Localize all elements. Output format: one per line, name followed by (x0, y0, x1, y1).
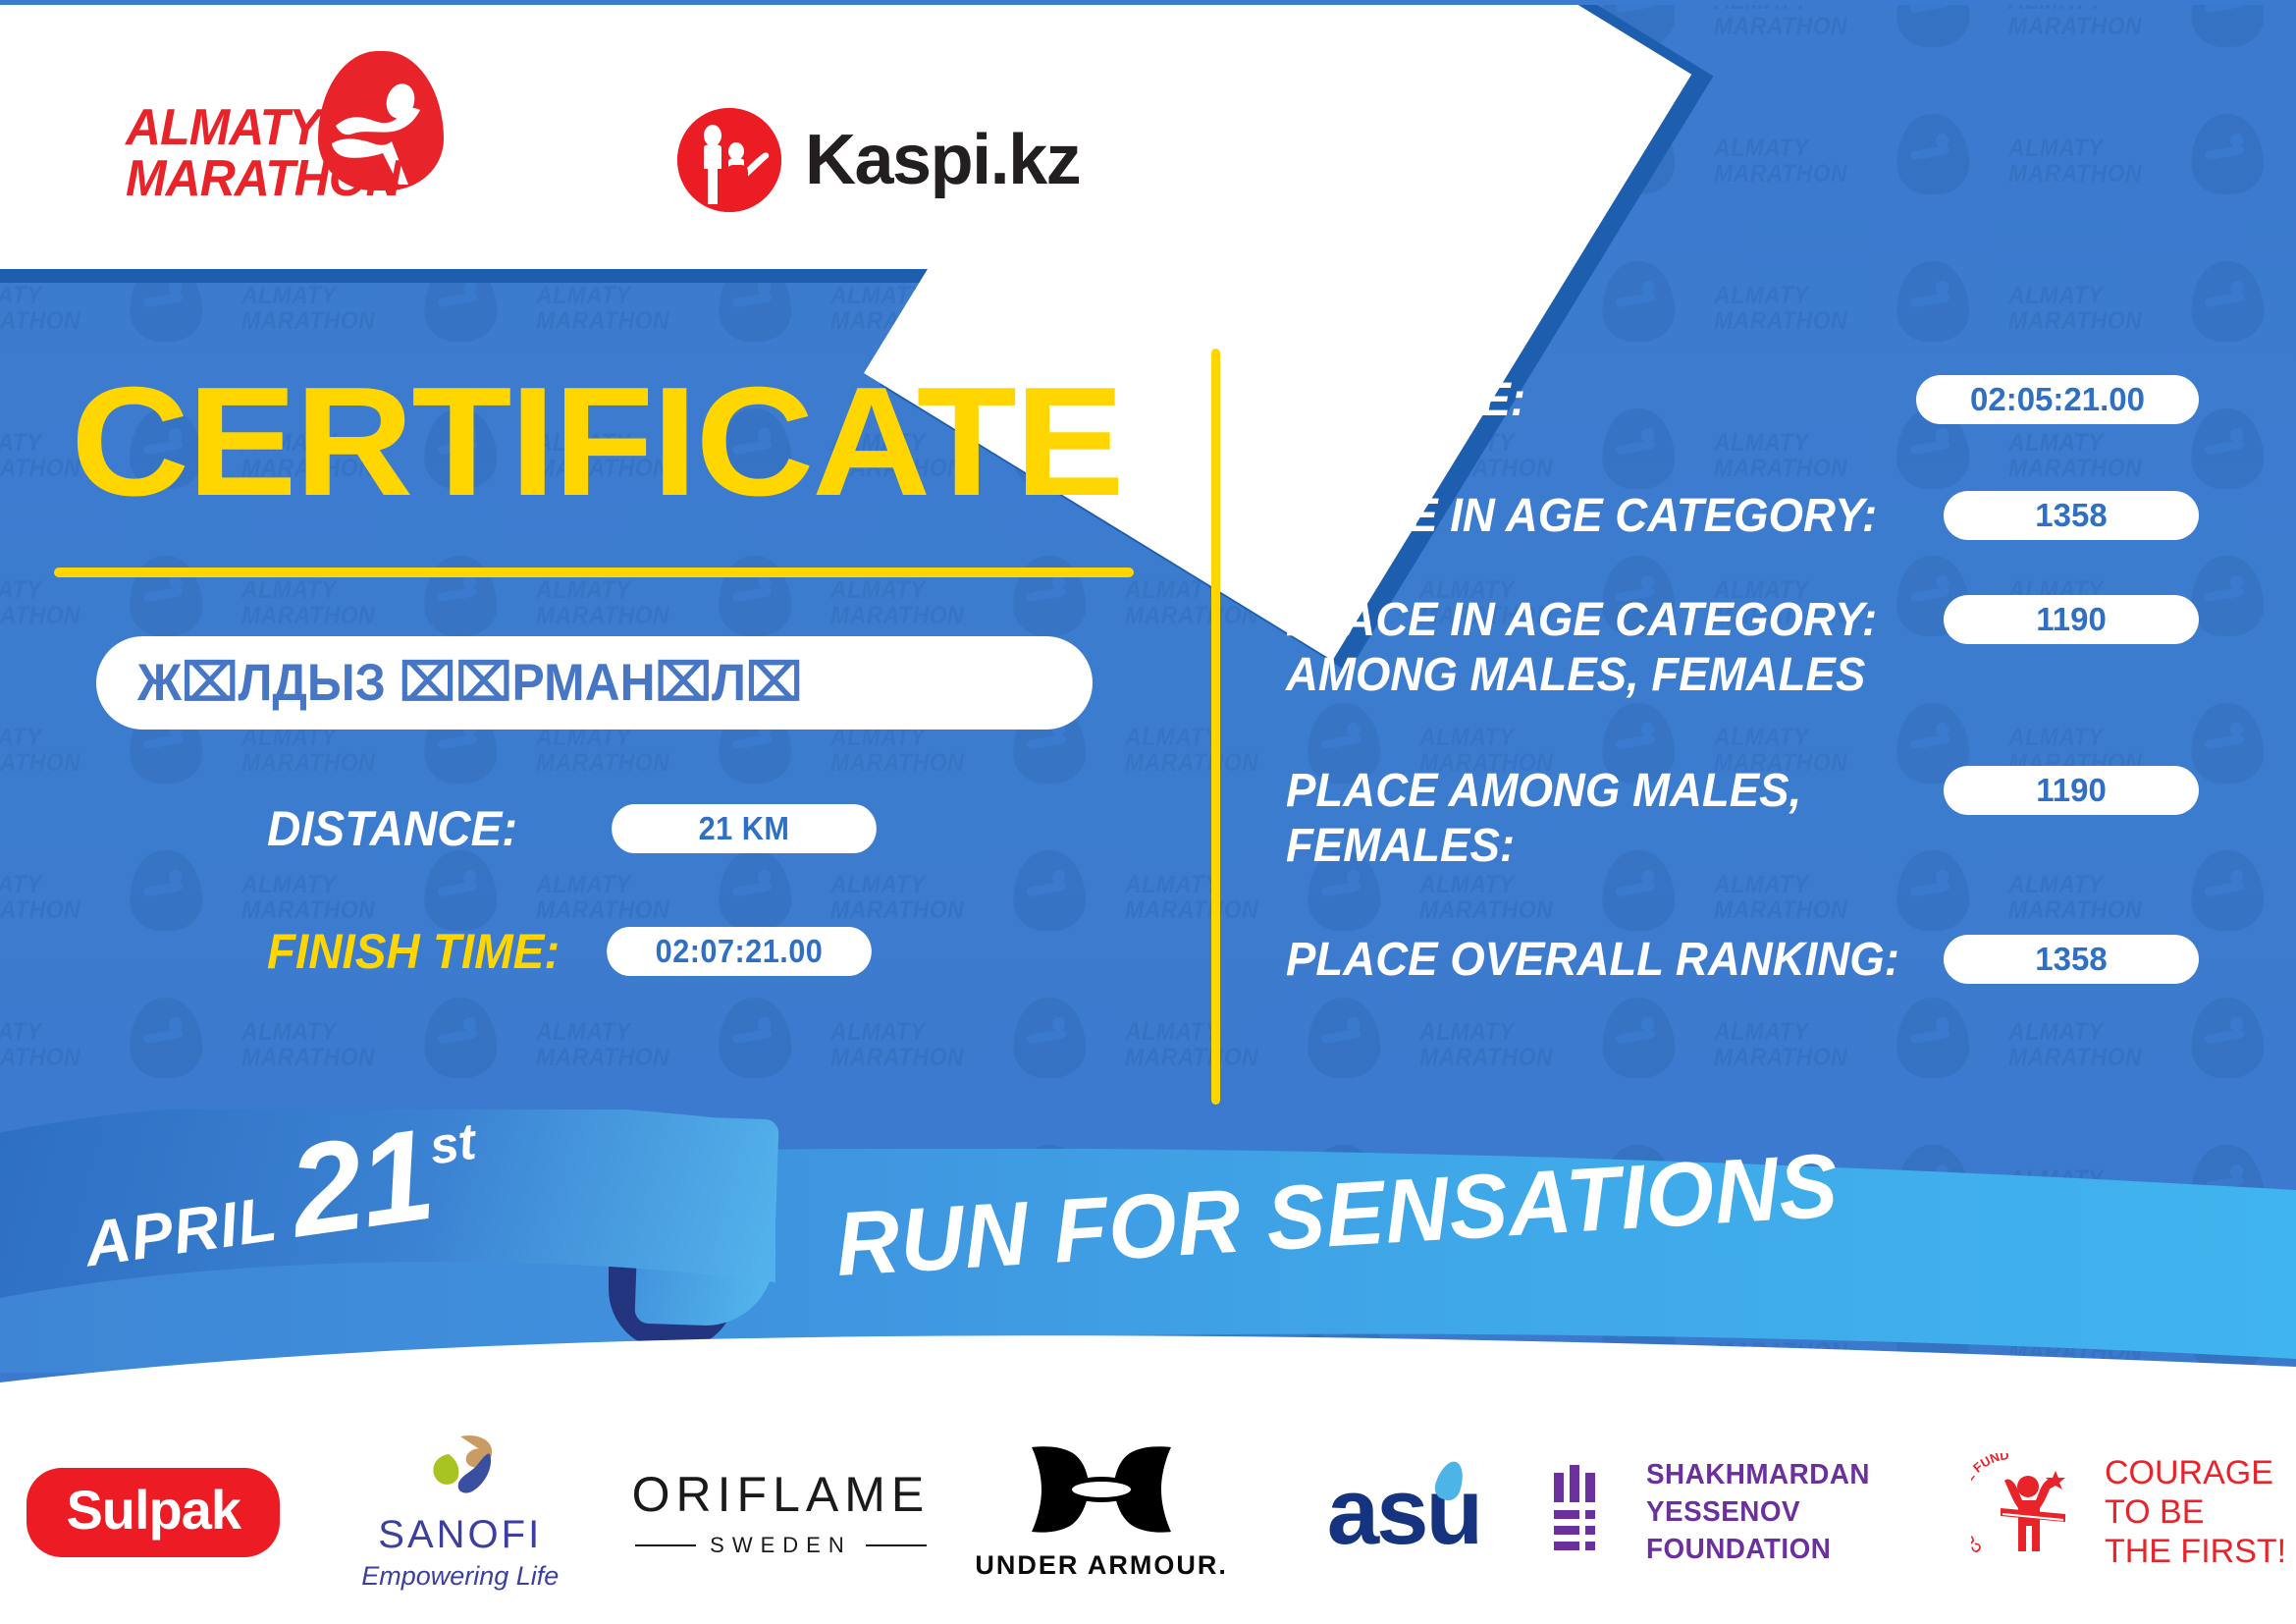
sponsor-logo-sanofi[interactable]: SANOFI Empowering Life (307, 1434, 614, 1591)
stat-label-place-among-gender: PLACE AMONG MALES, FEMALES: (1286, 764, 1801, 874)
stat-row-place-among-gender: PLACE AMONG MALES, FEMALES: 1190 (1286, 764, 2199, 874)
yessenov-wordmark: SHAKHMARDAN YESSENOV FOUNDATION (1646, 1456, 1949, 1568)
certificate-canvas: ALMATY MARATHONALMATY MARATHONALMATY MAR… (0, 0, 2296, 1624)
sanofi-mark-icon (421, 1433, 500, 1507)
kaspi-people-icon (677, 108, 781, 212)
stat-label-place-age-category: PLACE IN AGE CATEGORY: (1286, 489, 1877, 544)
stat-row-finish-time: FINISH TIME: 02:07:21.00 (267, 923, 881, 980)
kaspi-logo[interactable]: Kaspi.kz (677, 106, 1090, 214)
top-border (0, 0, 2296, 5)
stat-row-place-age-category: PLACE IN AGE CATEGORY: 1358 (1286, 489, 2199, 544)
kaspi-wordmark: Kaspi.kz (805, 120, 1080, 200)
stat-row-place-age-category-gender: PLACE IN AGE CATEGORY: AMONG MALES, FEMA… (1286, 593, 2199, 703)
sanofi-wordmark: SANOFI (361, 1513, 559, 1557)
event-day: 21 (284, 1120, 438, 1247)
sponsor-logo-yessenov-foundation[interactable]: SHAKHMARDAN YESSENOV FOUNDATION (1552, 1434, 1961, 1591)
oriflame-rule-left (635, 1544, 696, 1546)
stat-value-place-among-gender: 1190 (1944, 766, 2199, 815)
stat-label-chip-time: CHIP TIME: (1286, 373, 1525, 428)
stat-row-distance: DISTANCE: 21 KM (267, 800, 886, 857)
courage-fund-wordmark: COURAGE TO BE THE FIRST! (2105, 1453, 2286, 1571)
sponsor-logo-courage-fund[interactable]: CORPORATE FUND COURAGE TO BE THE FIRST! (1961, 1434, 2296, 1591)
vertical-divider (1211, 349, 1220, 1105)
sponsor-logo-sulpak[interactable]: Sulpak (0, 1434, 307, 1591)
almaty-marathon-logo: ALMATY MARATHON (126, 61, 469, 198)
under-armour-icon (1028, 1443, 1175, 1536)
header: ALMATY MARATHON Kaspi.kz (0, 0, 2296, 314)
oriflame-subtitle: SWEDEN (710, 1533, 852, 1558)
results-panel: CHIP TIME: 02:05:21.00 PLACE IN AGE CATE… (1286, 373, 2199, 1031)
under-armour-wordmark: UNDER ARMOUR. (975, 1550, 1228, 1581)
stat-value-finish-time: 02:07:21.00 (607, 927, 872, 976)
stat-value-place-age-category-gender: 1190 (1944, 595, 2199, 644)
sponsor-bar: Sulpak SANOFI Empowering Life ORIFLAME (0, 1424, 2296, 1600)
stat-label-place-age-category-gender: PLACE IN AGE CATEGORY: AMONG MALES, FEMA… (1286, 593, 1877, 703)
sponsor-logo-under-armour[interactable]: UNDER ARMOUR. (948, 1434, 1255, 1591)
sulpak-wordmark: Sulpak (27, 1468, 280, 1557)
stat-value-distance: 21 KM (612, 804, 877, 853)
stat-label-place-overall: PLACE OVERALL RANKING: (1286, 933, 1899, 988)
date-ribbon: APRIL 21 st (0, 1110, 815, 1355)
title-divider (54, 568, 1134, 577)
sponsor-logo-oriflame[interactable]: ORIFLAME SWEDEN (614, 1434, 948, 1591)
stat-value-place-overall: 1358 (1944, 935, 2199, 984)
courage-fund-icon: CORPORATE FUND (1971, 1453, 2089, 1571)
stat-label-distance: DISTANCE: (267, 800, 517, 857)
stat-value-chip-time: 02:05:21.00 (1916, 375, 2199, 424)
athlete-name-field: Ж⌧ЛДЫЗ ⌧⌧РМАН⌧Л⌧ (96, 636, 1093, 730)
page-title: CERTIFICATE (71, 368, 1122, 515)
oriflame-rule-right (866, 1544, 927, 1546)
athlete-name-value: Ж⌧ЛДЫЗ ⌧⌧РМАН⌧Л⌧ (137, 653, 802, 713)
sponsor-logo-asu[interactable]: asu (1255, 1434, 1552, 1591)
stat-label-finish-time: FINISH TIME: (267, 923, 560, 980)
stat-value-place-age-category: 1358 (1944, 491, 2199, 540)
sanofi-tagline: Empowering Life (361, 1561, 559, 1592)
stat-row-chip-time: CHIP TIME: 02:05:21.00 (1286, 373, 2199, 428)
almaty-marathon-wordmark: ALMATY MARATHON (126, 102, 400, 204)
svg-text:CORPORATE FUND: CORPORATE FUND (1971, 1453, 2010, 1556)
stat-row-place-overall: PLACE OVERALL RANKING: 1358 (1286, 933, 2199, 988)
oriflame-wordmark: ORIFLAME (632, 1466, 931, 1523)
yessenov-mark-icon (1552, 1465, 1621, 1559)
event-day-suffix: st (426, 1112, 479, 1177)
